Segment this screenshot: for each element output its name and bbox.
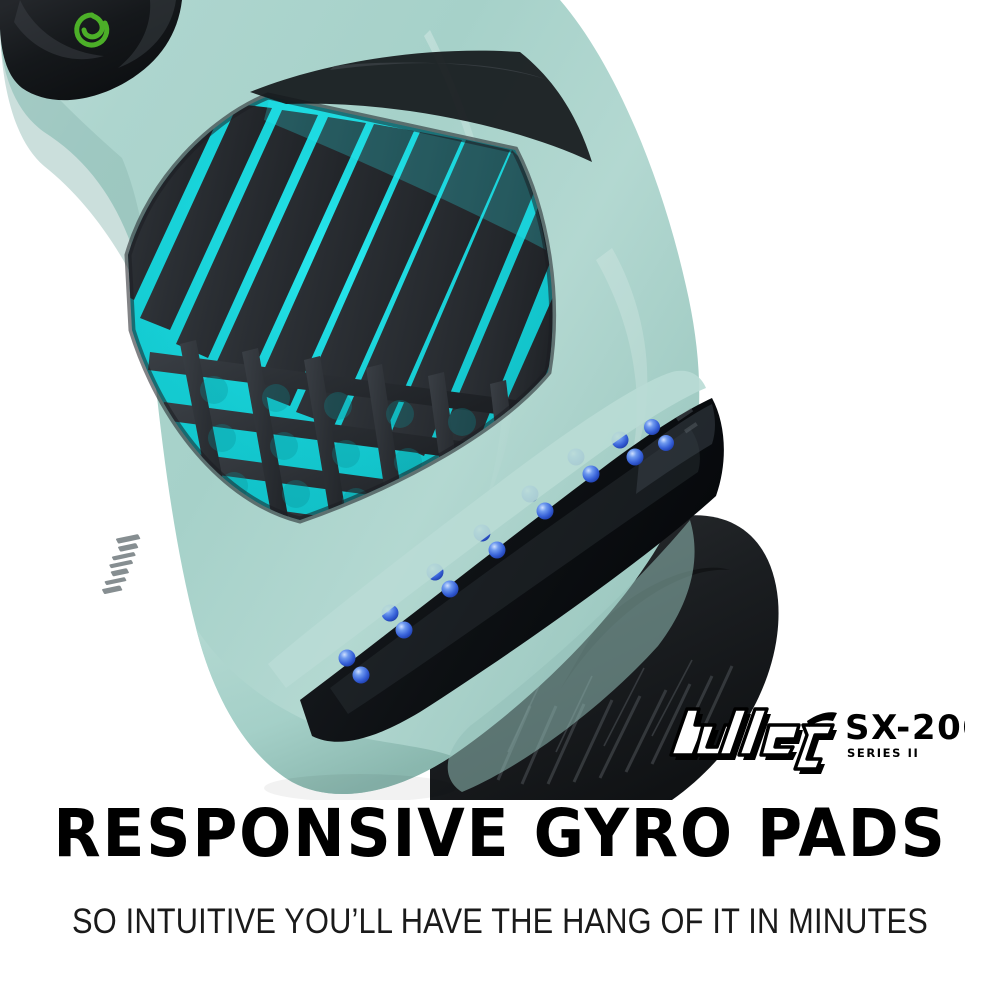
- marketing-image-canvas: SX-2000 SERIES II RESPONSIVE GYRO PADS S…: [0, 0, 1000, 1000]
- shell-wordmark: [79, 534, 163, 594]
- brand-series: SERIES II: [847, 746, 919, 760]
- product-photograph: [0, 0, 1000, 800]
- brand-model: SX-2000: [845, 708, 965, 748]
- subheadline: SO INTUITIVE YOU’LL HAVE THE HANG OF IT …: [60, 901, 940, 943]
- brand-lockup: SX-2000 SERIES II: [655, 695, 965, 775]
- brand-wordmark: [671, 709, 837, 774]
- headline: RESPONSIVE GYRO PADS: [35, 798, 965, 870]
